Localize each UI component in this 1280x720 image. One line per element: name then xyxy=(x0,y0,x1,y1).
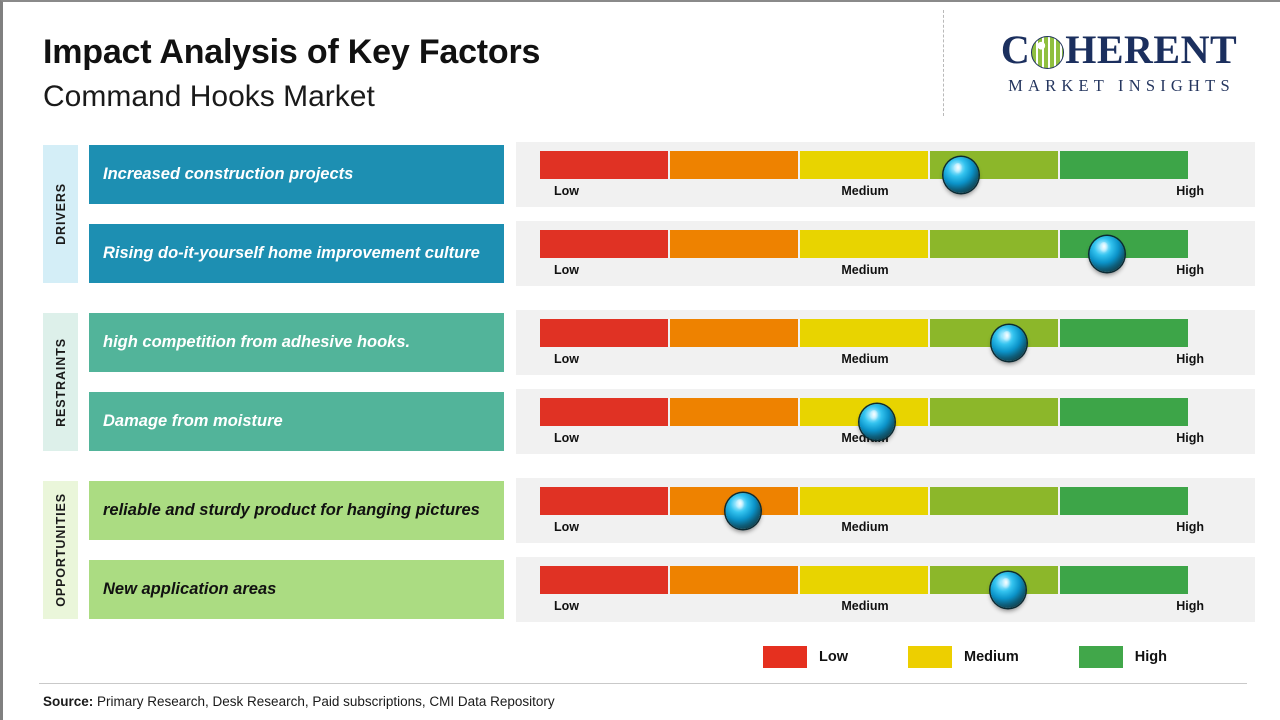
gauge-segment-4 xyxy=(930,487,1060,515)
factor-box[interactable]: Damage from moisture xyxy=(89,392,504,451)
gauge-segment-5 xyxy=(1060,398,1190,426)
factor-box[interactable]: high competition from adhesive hooks. xyxy=(89,313,504,372)
legend-item: High xyxy=(1079,646,1167,668)
factor-label: New application areas xyxy=(103,579,276,600)
legend-swatch xyxy=(1079,646,1123,668)
logo-letter-c: C xyxy=(1001,30,1030,70)
impact-gauge: LowMediumHigh xyxy=(516,478,1255,543)
gauge-segment-3 xyxy=(800,566,930,594)
factor-label: reliable and sturdy product for hanging … xyxy=(103,500,480,521)
scale-label-low: Low xyxy=(554,184,579,198)
category-tab-drivers: DRIVERS xyxy=(43,145,78,283)
page-subtitle: Command Hooks Market xyxy=(43,79,540,115)
logo-wordmark: C HERENT xyxy=(969,30,1269,70)
logo-divider xyxy=(943,10,944,116)
gauge-scale: LowMediumHigh xyxy=(540,184,1190,202)
gauge-segment-1 xyxy=(540,566,670,594)
globe-icon xyxy=(1031,36,1064,69)
gauge-segment-1 xyxy=(540,398,670,426)
category-tab-opportunities: OPPORTUNITIES xyxy=(43,481,78,619)
legend-item: Low xyxy=(763,646,848,668)
gauge-segment-5 xyxy=(1060,319,1190,347)
scale-label-medium: Medium xyxy=(841,263,888,277)
page-title: Impact Analysis of Key Factors xyxy=(43,32,540,72)
gauge-track xyxy=(540,319,1190,347)
scale-label-low: Low xyxy=(554,431,579,445)
legend-label: High xyxy=(1135,649,1167,665)
scale-label-low: Low xyxy=(554,263,579,277)
factor-label: Increased construction projects xyxy=(103,164,353,185)
impact-gauge: LowMediumHigh xyxy=(516,310,1255,375)
legend: LowMediumHigh xyxy=(763,646,1167,668)
category-tab-label: RESTRAINTS xyxy=(54,338,68,427)
gauge-segment-3 xyxy=(800,151,930,179)
category-tab-restraints: RESTRAINTS xyxy=(43,313,78,451)
gauge-segment-2 xyxy=(670,398,800,426)
impact-gauge: LowMediumHigh xyxy=(516,389,1255,454)
gauge-scale: LowMediumHigh xyxy=(540,520,1190,538)
legend-swatch xyxy=(908,646,952,668)
scale-label-low: Low xyxy=(554,599,579,613)
factor-box[interactable]: Rising do-it-yourself home improvement c… xyxy=(89,224,504,283)
logo-letters-herent: HERENT xyxy=(1065,30,1237,70)
company-logo: C HERENT MARKET INSIGHTS xyxy=(943,10,1273,118)
gauge-segment-2 xyxy=(670,230,800,258)
logo-inner: C HERENT MARKET INSIGHTS xyxy=(969,30,1269,96)
gauge-segment-3 xyxy=(800,230,930,258)
gauge-segment-1 xyxy=(540,151,670,179)
legend-item: Medium xyxy=(908,646,1019,668)
legend-label: Medium xyxy=(964,649,1019,665)
gauge-segment-5 xyxy=(1060,566,1190,594)
source-text: Primary Research, Desk Research, Paid su… xyxy=(93,694,554,709)
gauge-scale: LowMediumHigh xyxy=(540,352,1190,370)
impact-marker[interactable] xyxy=(991,572,1026,608)
gauge-track xyxy=(540,487,1190,515)
gauge-segment-2 xyxy=(670,319,800,347)
gauge-segment-3 xyxy=(800,319,930,347)
slide-canvas: Impact Analysis of Key Factors Command H… xyxy=(0,0,1280,720)
scale-label-high: High xyxy=(1176,263,1204,277)
scale-label-high: High xyxy=(1176,599,1204,613)
scale-label-medium: Medium xyxy=(841,599,888,613)
scale-label-high: High xyxy=(1176,431,1204,445)
scale-label-low: Low xyxy=(554,520,579,534)
gauge-segment-5 xyxy=(1060,230,1190,258)
impact-marker[interactable] xyxy=(943,157,978,193)
footer-divider xyxy=(39,683,1247,684)
gauge-track xyxy=(540,566,1190,594)
gauge-track xyxy=(540,398,1190,426)
source-note: Source: Primary Research, Desk Research,… xyxy=(43,694,555,709)
gauge-segment-2 xyxy=(670,151,800,179)
scale-label-medium: Medium xyxy=(841,184,888,198)
category-tab-label: OPPORTUNITIES xyxy=(54,493,68,607)
gauge-track xyxy=(540,151,1190,179)
gauge-segment-2 xyxy=(670,566,800,594)
scale-label-high: High xyxy=(1176,520,1204,534)
gauge-track xyxy=(540,230,1190,258)
impact-gauge: LowMediumHigh xyxy=(516,221,1255,286)
gauge-segment-3 xyxy=(800,487,930,515)
factor-label: high competition from adhesive hooks. xyxy=(103,332,410,353)
factor-box[interactable]: reliable and sturdy product for hanging … xyxy=(89,481,504,540)
impact-marker[interactable] xyxy=(1089,236,1124,272)
gauge-segment-5 xyxy=(1060,487,1190,515)
impact-gauge: LowMediumHigh xyxy=(516,142,1255,207)
gauge-segment-4 xyxy=(930,230,1060,258)
scale-label-medium: Medium xyxy=(841,352,888,366)
legend-swatch xyxy=(763,646,807,668)
factor-label: Rising do-it-yourself home improvement c… xyxy=(103,243,480,264)
impact-gauge: LowMediumHigh xyxy=(516,557,1255,622)
factor-label: Damage from moisture xyxy=(103,411,283,432)
title-block: Impact Analysis of Key Factors Command H… xyxy=(43,32,540,115)
factor-box[interactable]: New application areas xyxy=(89,560,504,619)
scale-label-high: High xyxy=(1176,352,1204,366)
gauge-segment-4 xyxy=(930,398,1060,426)
legend-label: Low xyxy=(819,649,848,665)
category-tab-label: DRIVERS xyxy=(54,183,68,245)
gauge-segment-1 xyxy=(540,319,670,347)
source-label: Source: xyxy=(43,694,93,709)
scale-label-low: Low xyxy=(554,352,579,366)
scale-label-medium: Medium xyxy=(841,520,888,534)
factor-box[interactable]: Increased construction projects xyxy=(89,145,504,204)
gauge-scale: LowMediumHigh xyxy=(540,599,1190,617)
impact-marker[interactable] xyxy=(725,493,760,529)
gauge-segment-1 xyxy=(540,230,670,258)
gauge-segment-1 xyxy=(540,487,670,515)
impact-marker[interactable] xyxy=(859,404,894,440)
impact-marker[interactable] xyxy=(992,325,1027,361)
gauge-segment-5 xyxy=(1060,151,1190,179)
logo-tagline: MARKET INSIGHTS xyxy=(969,76,1269,96)
scale-label-high: High xyxy=(1176,184,1204,198)
